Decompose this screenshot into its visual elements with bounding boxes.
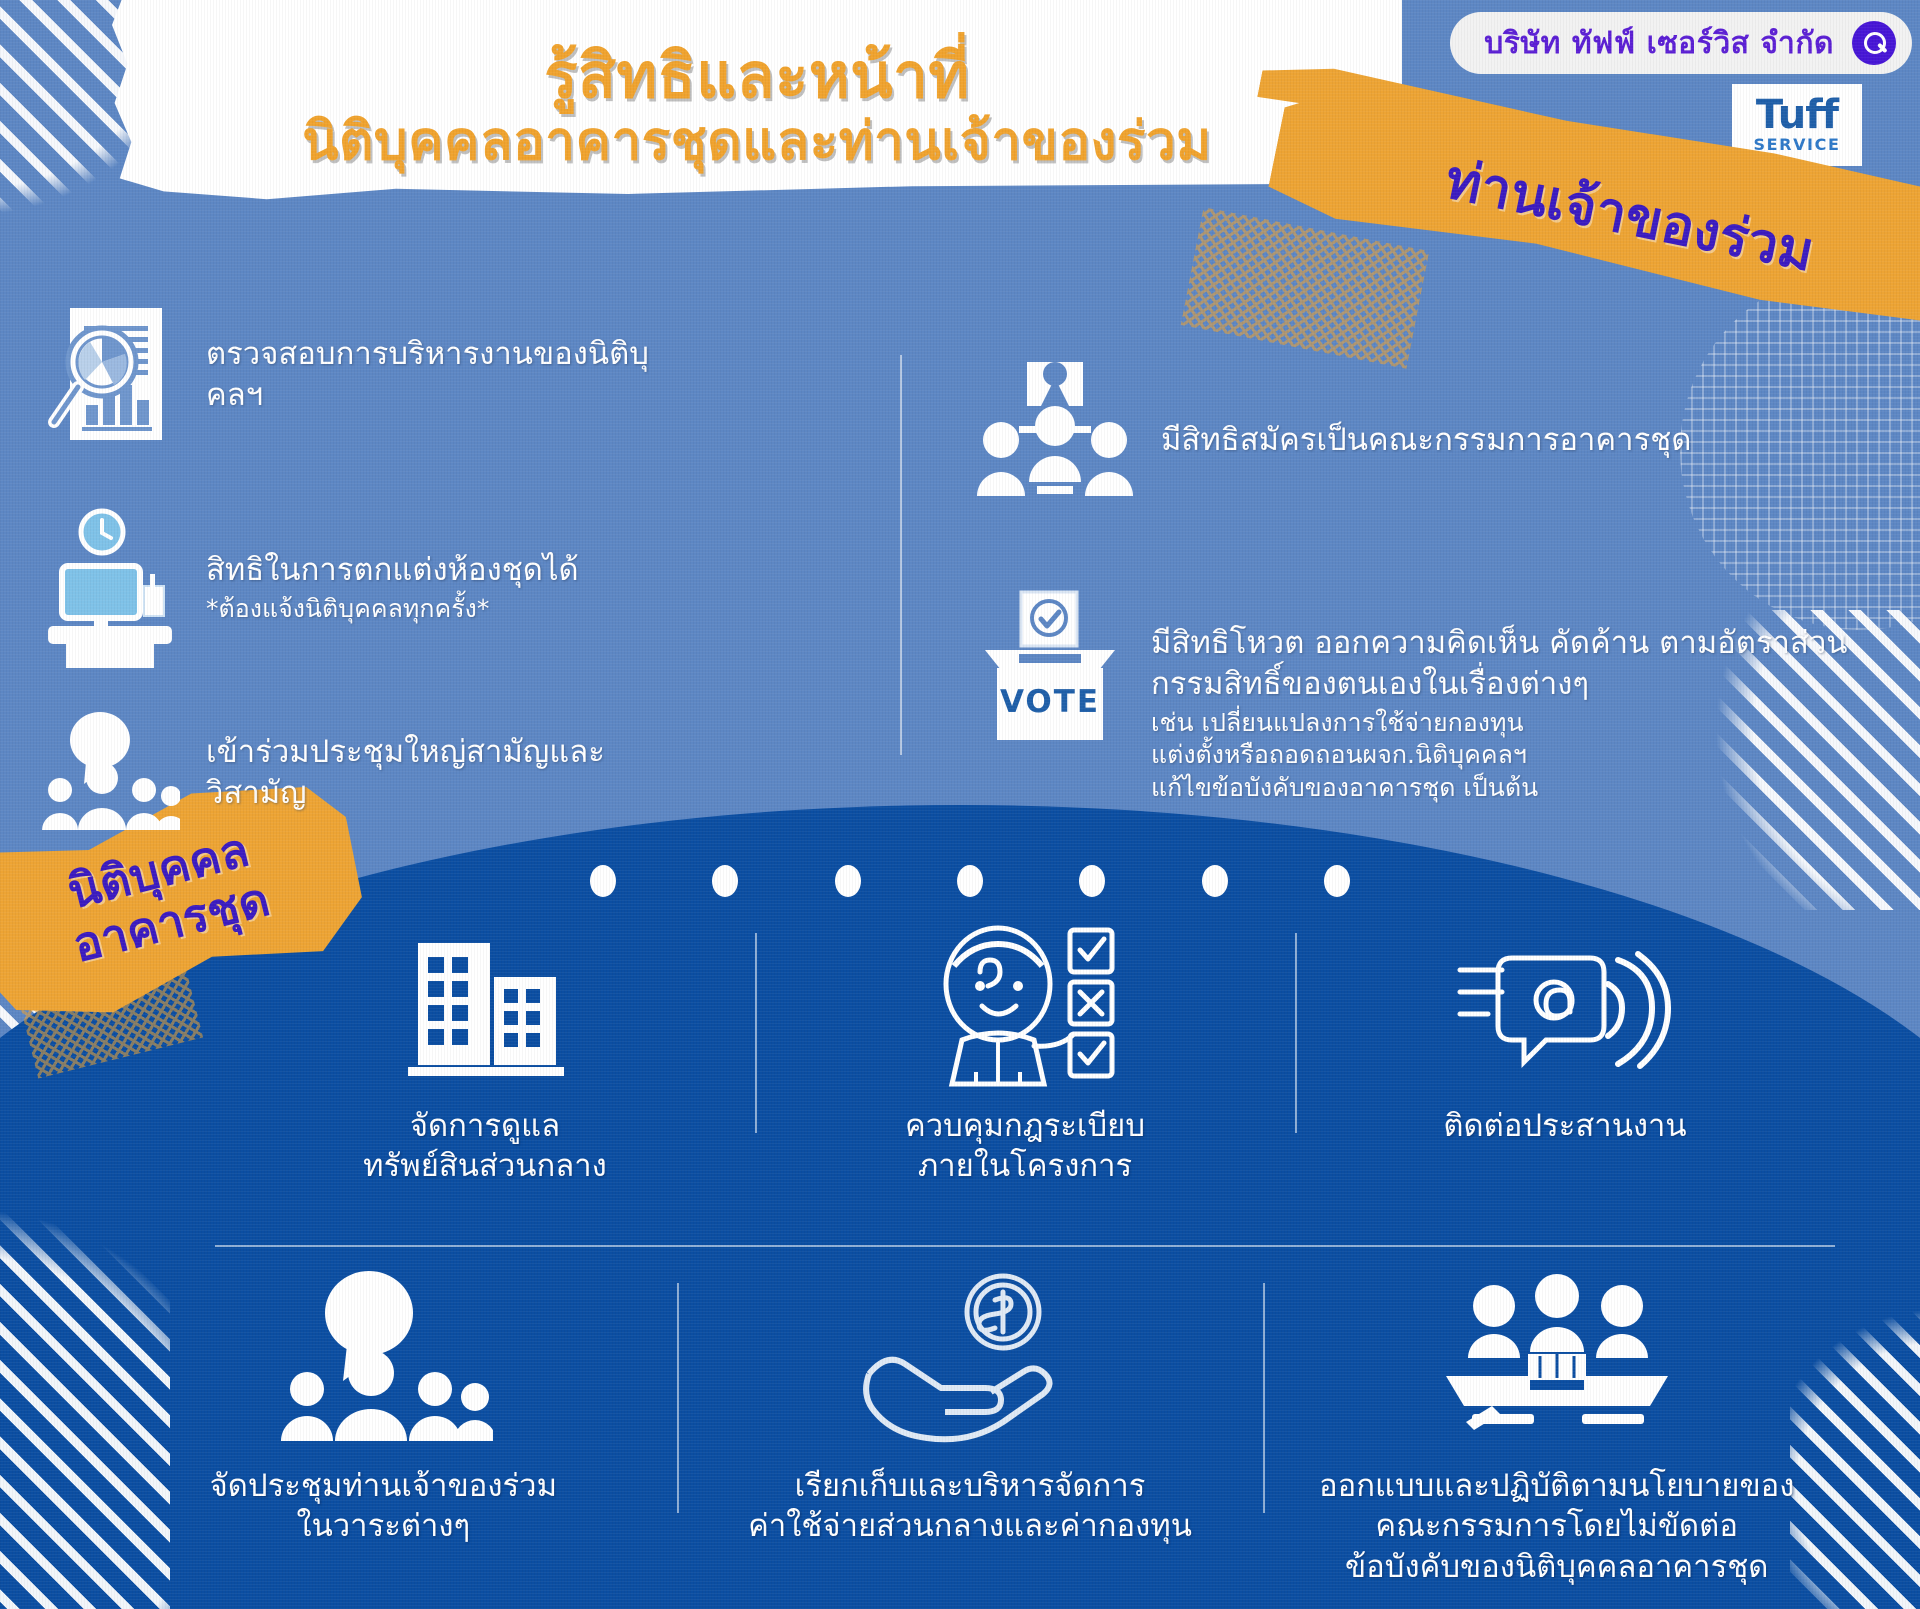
infographic-root: รู้สิทธิและหน้าที่ นิติบุคคลอาคารชุดและท… <box>0 0 1920 1609</box>
duty-card-label: จัดการดูแล ทรัพย์สินส่วนกลาง <box>363 1106 607 1187</box>
hand-coin-icon <box>855 1265 1085 1450</box>
dome-dot-row <box>590 865 1350 897</box>
brand-pill: บริษัท ทัฟฟ์ เซอร์วิส จำกัด <box>1450 12 1912 74</box>
title-line-1: รู้สิทธิและหน้าที่ <box>544 43 970 110</box>
duty-card-label: ติดต่อประสานงาน <box>1443 1106 1686 1146</box>
duty-card-label: ควบคุมกฎระเบียบ ภายในโครงการ <box>905 1106 1145 1187</box>
duty-card: เรียกเก็บและบริหารจัดการ ค่าใช้จ่ายส่วนก… <box>677 1265 1264 1587</box>
list-item: ตรวจสอบการบริหารงานของนิติบุคลฯ <box>40 300 700 450</box>
meeting-people-icon <box>40 708 180 838</box>
duty-card-label: ออกแบบและปฏิบัติตามนโยบายของ คณะกรรมการโ… <box>1319 1466 1794 1587</box>
dome-dot <box>1324 865 1350 897</box>
page-title: รู้สิทธิและหน้าที่ นิติบุคคลอาคารชุดและท… <box>112 0 1402 215</box>
owner-right-label: เข้าร่วมประชุมใหญ่สามัญและวิสามัญ <box>206 732 700 814</box>
jurist-duties-top-row: จัดการดูแล ทรัพย์สินส่วนกลาง <box>215 915 1835 1187</box>
owner-right-label: มีสิทธิโหวต ออกความคิดเห็น คัดค้าน ตามอั… <box>1151 582 1848 845</box>
owner-right-label: มีสิทธิสมัครเป็นคณะกรรมการอาคารชุด <box>1161 420 1691 461</box>
boardroom-meeting-icon <box>1432 1265 1682 1450</box>
list-item: เข้าร่วมประชุมใหญ่สามัญและวิสามัญ <box>40 708 700 838</box>
duty-card: ออกแบบและปฏิบัติตามนโยบายของ คณะกรรมการโ… <box>1263 1265 1850 1587</box>
duty-card: จัดการดูแล ทรัพย์สินส่วนกลาง <box>215 915 755 1187</box>
dome-horizontal-divider <box>215 1245 1835 1247</box>
report-magnifier-icon <box>40 300 180 450</box>
committee-group-icon <box>975 360 1135 520</box>
ribbon-owner-speckle <box>1181 207 1430 369</box>
desk-computer-icon <box>40 508 180 668</box>
owner-right-label: สิทธิในการตกแต่งห้องชุดได้ *ต้องแจ้งนิติ… <box>206 550 579 625</box>
duty-card: ติดต่อประสานงาน <box>1295 915 1835 1187</box>
owner-rights-right-column: มีสิทธิสมัครเป็นคณะกรรมการอาคารชุด VOTE … <box>975 360 1880 845</box>
upper-vertical-divider <box>900 355 902 755</box>
list-item: มีสิทธิสมัครเป็นคณะกรรมการอาคารชุด <box>975 360 1880 520</box>
contact-email-phone-icon <box>1450 915 1680 1090</box>
jurist-duties-bottom-row: จัดประชุมท่านเจ้าของร่วม ในวาระต่างๆ เรี… <box>90 1265 1850 1587</box>
logo-wordmark: Tuff <box>1756 96 1838 134</box>
svg-text:VOTE: VOTE <box>1000 684 1100 720</box>
duty-card-label: จัดประชุมท่านเจ้าของร่วม ในวาระต่างๆ <box>210 1466 557 1547</box>
list-item: VOTE มีสิทธิโหวต ออกความคิดเห็น คัดค้าน … <box>975 582 1880 845</box>
dome-dot <box>1202 865 1228 897</box>
dome-dot <box>1079 865 1105 897</box>
list-item: สิทธิในการตกแต่งห้องชุดได้ *ต้องแจ้งนิติ… <box>40 508 700 668</box>
meeting-people-icon <box>273 1265 493 1450</box>
building-icon <box>400 915 570 1090</box>
logo-tagline: SERVICE <box>1754 135 1841 154</box>
dome-dot <box>957 865 983 897</box>
owner-right-label: ตรวจสอบการบริหารงานของนิติบุคลฯ <box>206 334 700 416</box>
search-icon <box>1852 21 1896 65</box>
title-line-2: นิติบุคคลอาคารชุดและท่านเจ้าของร่วม <box>302 112 1211 171</box>
dome-dot <box>835 865 861 897</box>
owner-rights-left-column: ตรวจสอบการบริหารงานของนิติบุคลฯ สิทธิในก… <box>40 300 700 838</box>
duty-card-label: เรียกเก็บและบริหารจัดการ ค่าใช้จ่ายส่วนก… <box>748 1466 1192 1547</box>
dome-dot <box>590 865 616 897</box>
duty-card: จัดประชุมท่านเจ้าของร่วม ในวาระต่างๆ <box>90 1265 677 1587</box>
duty-card: ควบคุมกฎระเบียบ ภายในโครงการ <box>755 915 1295 1187</box>
rules-checklist-icon <box>910 915 1140 1090</box>
dome-dot <box>712 865 738 897</box>
vote-box-icon: VOTE <box>975 588 1125 748</box>
company-name: บริษัท ทัฟฟ์ เซอร์วิส จำกัด <box>1484 20 1834 67</box>
